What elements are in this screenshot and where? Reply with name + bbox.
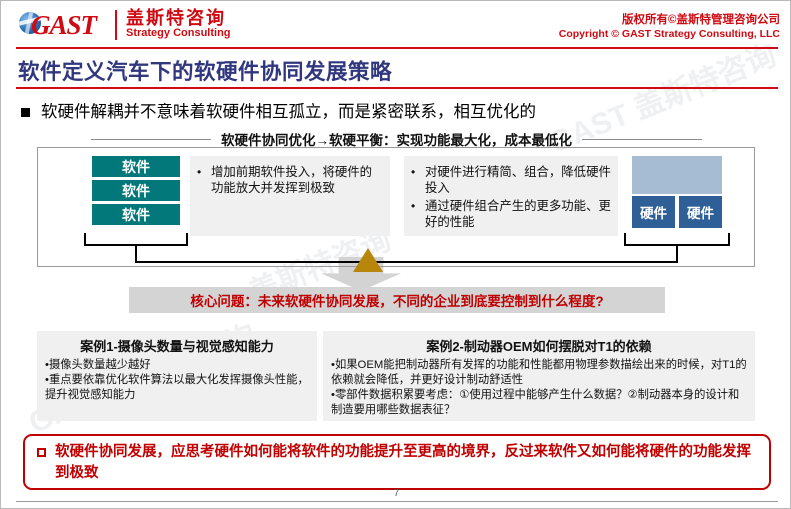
- conclusion-text: 软硬件协同发展，应思考硬件如何能将软件的功能提升至更高的境界，反过来软件又如何能…: [55, 442, 759, 484]
- page-number: 7: [1, 488, 791, 499]
- case-box-1: 案例1-摄像头数量与视觉感知能力 •摄像头数量越少越好 •重点要依靠优化软件算法…: [37, 331, 317, 421]
- core-question-text: 核心问题：未来软硬件协同发展，不同的企业到底要控制到什么程度?: [190, 290, 603, 310]
- header-divider: [16, 47, 778, 49]
- software-block-2: 软件: [92, 180, 180, 201]
- page-title: 软件定义汽车下的软硬件协同发展策略: [18, 55, 392, 86]
- copyright-en: Copyright © GAST Strategy Consulting, LL…: [559, 27, 780, 41]
- lead-bullet: 软硬件解耦并不意味着软硬件相互孤立，而是紧密联系，相互优化的: [21, 101, 536, 123]
- logo-name-cn: 盖斯特咨询: [126, 10, 231, 27]
- hardware-block-2: 硬件: [679, 196, 722, 228]
- subhead-rule-left: [91, 139, 211, 140]
- logo-name-en: Strategy Consulting: [126, 27, 231, 40]
- conclusion-box: 软硬件协同发展，应思考硬件如何能将软件的功能提升至更高的境界，反过来软件又如何能…: [23, 434, 771, 490]
- logo-wordmark: GAST: [31, 9, 96, 41]
- lead-bullet-text: 软硬件解耦并不意味着软硬件相互孤立，而是紧密联系，相互优化的: [41, 101, 536, 123]
- hardware-group: 硬件 硬件: [632, 156, 722, 228]
- footer-divider: [16, 501, 778, 502]
- gast-logo-mark: GAST: [17, 9, 113, 41]
- balance-diagram-panel: 软件 软件 软件 • 增加前期软件投入，将硬件的功能放大并发挥到极致 • 对硬件…: [37, 147, 755, 267]
- hardware-platform-bar: [632, 156, 722, 194]
- software-block-1: 软件: [92, 156, 180, 177]
- square-bullet-icon: [21, 108, 30, 117]
- copyright-block: 版权所有©盖斯特管理咨询公司 Copyright © GAST Strategy…: [559, 13, 780, 41]
- case-2-title: 案例2-制动器OEM如何摆脱对T1的依赖: [331, 338, 747, 355]
- hardware-strategy-item-1: 对硬件进行精简、组合，降低硬件投入: [425, 164, 611, 196]
- brand-logo: GAST 盖斯特咨询 Strategy Consulting: [17, 9, 231, 41]
- list-item: • 通过硬件组合产生的更多功能、更好的性能: [411, 198, 611, 230]
- case-1-line-2: •重点要依靠优化软件算法以最大化发挥摄像头性能，提升视觉感知能力: [45, 373, 309, 403]
- software-block-3: 软件: [92, 204, 180, 225]
- software-strategy-item-1: 增加前期软件投入，将硬件的功能放大并发挥到极致: [211, 164, 383, 196]
- case-2-line-2: •零部件数据积累要考虑：①使用过程中能够产生什么数据？②制动器本身的设计和制造要…: [331, 388, 747, 418]
- case-2-line-1: •如果OEM能把制动器所有发挥的功能和性能都用物理参数描绘出来的时候，对T1的依…: [331, 358, 747, 388]
- hardware-block-1: 硬件: [632, 196, 675, 228]
- copyright-cn: 版权所有©盖斯特管理咨询公司: [559, 13, 780, 27]
- logo-text-group: 盖斯特咨询 Strategy Consulting: [126, 10, 231, 40]
- balance-beam: [135, 261, 678, 263]
- hardware-strategy-box: • 对硬件进行精简、组合，降低硬件投入 • 通过硬件组合产生的更多功能、更好的性…: [404, 156, 618, 236]
- software-stack: 软件 软件 软件: [92, 156, 180, 228]
- fulcrum-triangle-icon: [353, 248, 383, 272]
- logo-divider: [115, 10, 117, 40]
- bullet-dot-icon: •: [411, 164, 425, 180]
- software-strategy-box: • 增加前期软件投入，将硬件的功能放大并发挥到极致: [190, 156, 390, 236]
- list-item: • 对硬件进行精简、组合，降低硬件投入: [411, 164, 611, 196]
- bullet-dot-icon: •: [197, 164, 211, 180]
- slide-header: GAST 盖斯特咨询 Strategy Consulting 版权所有©盖斯特管…: [1, 1, 791, 51]
- hardware-strategy-item-2: 通过硬件组合产生的更多功能、更好的性能: [425, 198, 611, 230]
- core-question-banner: 核心问题：未来软硬件协同发展，不同的企业到底要控制到什么程度?: [129, 287, 665, 313]
- subhead-rule-right: [582, 139, 702, 140]
- title-divider: [16, 87, 778, 89]
- case-box-2: 案例2-制动器OEM如何摆脱对T1的依赖 •如果OEM能把制动器所有发挥的功能和…: [323, 331, 755, 421]
- case-1-line-1: •摄像头数量越少越好: [45, 358, 309, 373]
- hollow-square-bullet-icon: [37, 448, 46, 457]
- subhead-text: 软硬件协同优化→软硬平衡：实现功能最大化，成本最低化: [211, 129, 582, 149]
- case-1-title: 案例1-摄像头数量与视觉感知能力: [45, 338, 309, 355]
- bullet-dot-icon: •: [411, 198, 425, 214]
- diagram-subhead: 软硬件协同优化→软硬平衡：实现功能最大化，成本最低化: [1, 129, 791, 149]
- list-item: • 增加前期软件投入，将硬件的功能放大并发挥到极致: [197, 164, 383, 196]
- slide-canvas: GAST 盖斯特咨询 盖斯特咨询 GAST 盖斯特咨询 GAST 盖斯特咨询 S…: [0, 0, 791, 509]
